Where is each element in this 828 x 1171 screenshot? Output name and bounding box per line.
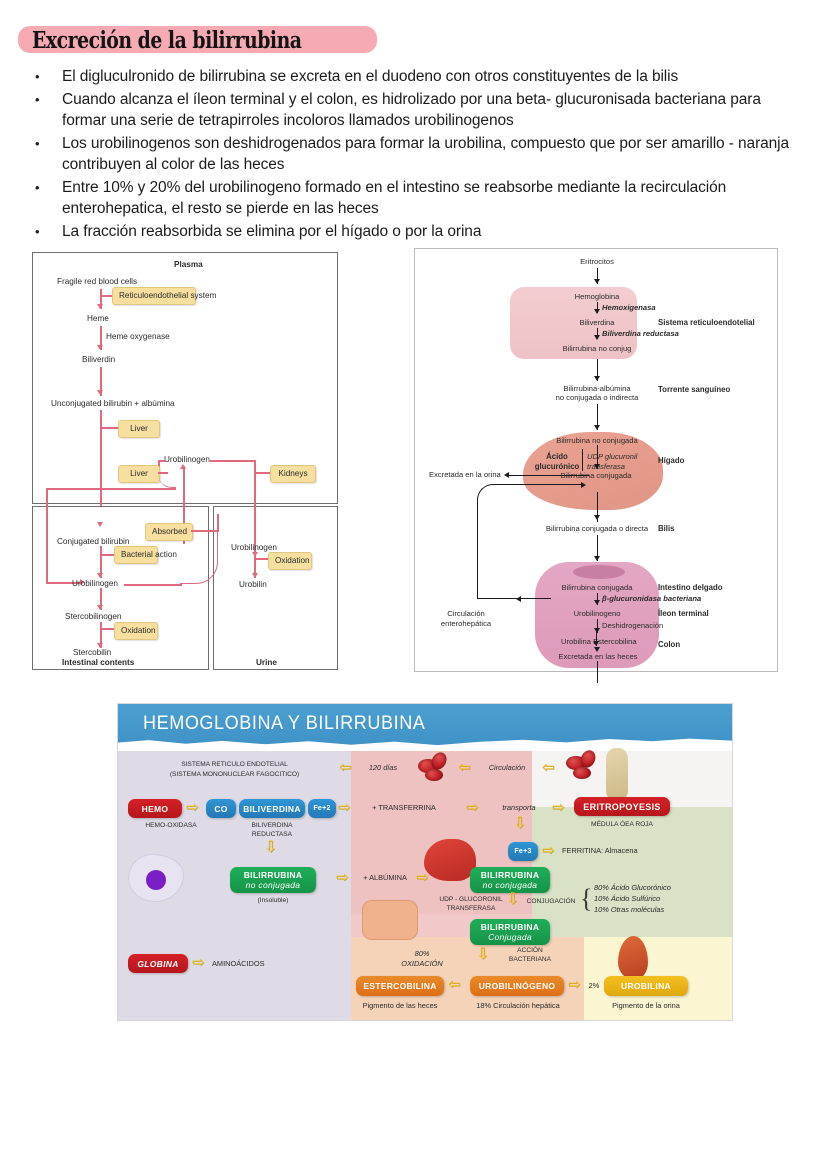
arrow-left [504, 472, 509, 478]
label-conjugacion: CONJUGACIÓN [522, 898, 580, 906]
infographic-title: HEMOGLOBINA Y BILIRRUBINA [143, 713, 425, 735]
tag-globina: GLOBINA [128, 954, 188, 973]
arrow-down [594, 425, 600, 430]
title-highlight: Excreción de la bilirrubina [18, 26, 377, 53]
label-albumina: + ALBÚMINA [356, 874, 414, 882]
list-item: • El digluculronido de bilirrubina se ex… [30, 66, 800, 88]
list-item: • Entre 10% y 20% del urobilinogeno form… [30, 177, 800, 220]
arrow-right-icon: ⇨ [336, 870, 349, 885]
label-udp-glucoronil-l2: TRANSFERASA [438, 905, 504, 913]
label-colon: Colon [658, 640, 680, 649]
bullet-marker: • [30, 221, 62, 242]
label-conjugated-bilirubin: Conjugated bilirubin [57, 537, 129, 546]
connector-curve [180, 530, 218, 584]
label-fragile-rbc: Fragile red blood cells [57, 277, 137, 286]
arrow-right-icon: ⇨ [552, 800, 565, 815]
connector-line [511, 484, 583, 485]
label-deshidrogenacion: Deshidrogenación [602, 621, 663, 630]
arrow-down-icon: ⇩ [264, 840, 277, 856]
label-bacteriana: BACTERIANA [502, 956, 558, 964]
label-bilis: Bilis [658, 524, 674, 533]
bullet-text: Los urobilinogenos son deshidrogenados p… [62, 133, 800, 176]
arrow-right-icon: ⇨ [568, 977, 581, 992]
chip-oxidation-1: Oxidation [114, 622, 158, 640]
label-transferrina: + TRANSFERRINA [362, 804, 446, 812]
arrow-down [97, 345, 103, 350]
label-ferritina: FERRITINA: Almacena [562, 847, 672, 855]
chip-oxidation-2: Oxidation [268, 552, 312, 570]
arrow-down [594, 309, 600, 314]
tag-bilirrubina-no-conjugada-left: BILIRRUBINA no conjugada [230, 867, 316, 893]
page-title: Excreción de la bilirrubina [18, 26, 377, 56]
connector-curve [477, 484, 513, 504]
arrow-down [594, 600, 600, 605]
label-biliverdin: Biliverdin [82, 355, 115, 364]
tag-hemo: HEMO [128, 799, 182, 818]
connector-line [477, 499, 478, 599]
tag-bncr-l2: no conjugada [483, 880, 538, 890]
diagram-bilirubin-english: Plasma Fragile red blood cells Reticuloe… [32, 252, 338, 670]
arrow-left-icon: ⇦ [448, 977, 461, 992]
rbc-icon [573, 767, 591, 779]
connector-line [507, 598, 521, 599]
label-biliverdina-reductasa-l2: REDUCTASA [236, 831, 308, 839]
arrow-down [594, 515, 600, 520]
chip-liver-2: Liver [118, 465, 160, 483]
arrow-right-icon: ⇨ [466, 800, 479, 815]
label-biliverdina-reductasa-l1: BILIVERDINA [236, 822, 308, 830]
intestine-icon [362, 900, 418, 940]
bullet-marker: • [30, 89, 62, 110]
arrow-down [594, 376, 600, 381]
tag-bnc-l2: no conjugada [246, 880, 301, 890]
label-urobilinogen-urine: Urobilinogen [231, 543, 277, 552]
arrow-down [594, 556, 600, 561]
label-transporta: transporta [490, 804, 548, 812]
arrow-down [97, 304, 103, 309]
label-circulacion-hepatica: 18% Circulación hepática [462, 1002, 574, 1010]
label-bilirrubina-no-conjug: Bilirrubina no conjug [537, 344, 657, 353]
list-item: • La fracción reabsorbida se elimina por… [30, 221, 800, 243]
kidney-icon [618, 936, 648, 980]
label-sistema-reticuloendotelial: Sistema reticuloendotelial [658, 318, 755, 327]
label-120-dias: 120 días [358, 764, 408, 772]
bullet-text: Cuando alcanza el íleon terminal y el co… [62, 89, 800, 132]
label-urine: Urine [256, 658, 277, 667]
connector-line [124, 584, 182, 586]
label-pct-acido-glucoronico: 80% Ácido Glucorónico [594, 884, 704, 892]
connector-line [210, 460, 256, 462]
label-stercobilinogen: Stercobilinogen [65, 612, 121, 621]
label-sistema-reticulo-endotelial-l1: SISTEMA RETICULO ENDOTELIAL [132, 761, 337, 769]
label-excretada-en-la-orina: Excretada en la orina [429, 470, 501, 479]
liver-icon [424, 839, 476, 881]
bullet-marker: • [30, 133, 62, 154]
infographic-hemoglobina-bilirrubina: HEMOGLOBINA Y BILIRRUBINA SISTEMA RETICU… [117, 703, 733, 1021]
label-circulacion: Circulación [476, 764, 538, 772]
label-intestino-delgado: Intestino delgado [658, 583, 723, 592]
page-title-text: Excreción de la bilirrubina [32, 29, 302, 52]
label-pigmento-orina: Pigmento de la orina [600, 1002, 692, 1010]
label-bilirrubina-no-conjugada: Bilirrubina no conjugada [539, 436, 655, 445]
arrow-down [594, 335, 600, 340]
arrow-down [594, 279, 600, 284]
label-80-pct: 80% [402, 950, 442, 958]
rbc-icon [425, 769, 443, 781]
list-item: • Los urobilinogenos son deshidrogenados… [30, 133, 800, 176]
bullet-list: • El digluculronido de bilirrubina se ex… [30, 66, 800, 243]
label-bilirrubina-albumina: Bilirrubina-albúmina [537, 384, 657, 393]
label-excretada-en-las-heces: Excretada en las heces [508, 652, 688, 661]
label-ileon-terminal: Íleon terminal [658, 609, 709, 618]
arrow-left-icon: ⇦ [458, 760, 471, 775]
label-insoluble: (Insoluble) [230, 897, 316, 905]
label-urobilinogeno: Urobilinogeno [553, 609, 641, 618]
label-udp-glucoronil-l1: UDP - GLUCORONIL [438, 896, 504, 904]
label-oxidacion: OXIDACIÓN [394, 960, 450, 968]
tag-bilirrubina-conjugada: BILIRRUBINA Conjugada [470, 919, 550, 945]
arrow-down [252, 573, 258, 578]
arrow-down [97, 390, 103, 395]
label-heme-oxygenase: Heme oxygenase [106, 332, 170, 341]
arrow-right-icon: ⇨ [542, 843, 555, 858]
connector-line [100, 410, 102, 506]
tag-bnc-l1: BILIRRUBINA [244, 870, 303, 880]
label-stercobilin: Stercobilin [73, 648, 111, 657]
connector-line [217, 514, 219, 530]
arrow-down [594, 464, 600, 469]
tag-bc-l1: BILIRRUBINA [481, 922, 540, 932]
label-no-conjugada-indirecta: no conjugada o indirecta [537, 393, 657, 402]
arrow-right-icon: ⇨ [416, 870, 429, 885]
label-bcd-text: Bilirrubina conjugada o directa [546, 524, 648, 533]
tag-urobilinogeno: UROBILINÓGENO [470, 976, 564, 996]
tag-fe3: Fe+3 [508, 842, 538, 861]
arrow-down-icon: ⇩ [476, 947, 489, 963]
wbc-nucleus-icon [146, 870, 166, 890]
bullet-text: El digluculronido de bilirrubina se excr… [62, 66, 678, 88]
arrow-up [180, 464, 186, 469]
tag-fe2: Fe+2 [308, 799, 336, 818]
arrow-down [97, 573, 103, 578]
connector-line [509, 475, 589, 476]
label-biliverdina-reductasa: Biliverdina reductasa [602, 329, 679, 338]
arrow-down-icon: ⇩ [513, 816, 526, 832]
tag-bc-l2: Conjugada [488, 932, 532, 942]
chip-bacterial-action: Bacterial action [114, 546, 158, 564]
bone-marrow-icon [606, 748, 628, 800]
label-hemoxigenasa: Hemoxigenasa [602, 303, 656, 312]
bullet-text: Entre 10% y 20% del urobilinogeno formad… [62, 177, 800, 220]
label-beta-glucuronidasa: β-glucuronidasa bacteriana [602, 594, 701, 603]
label-pigmento-heces: Pigmento de las heces [354, 1002, 446, 1010]
diagram-bilirubin-spanish: Eritrocitos Hemoglobina Hemoxigenasa Bil… [414, 248, 778, 672]
tag-co: CO [206, 799, 236, 818]
label-higado: Hígado [658, 456, 684, 465]
shape-intestine-lumen [573, 565, 625, 579]
connector-line [597, 661, 598, 683]
arrow-left-icon: ⇦ [339, 760, 352, 775]
label-pct-acido-sulfurico: 10% Ácido Sulfúrico [594, 895, 704, 903]
bullet-marker: • [30, 177, 62, 198]
label-bilirrubina-conjugada-gut: Bilirrubina conjugada [543, 583, 651, 592]
arrow-right-icon: ⇨ [192, 955, 205, 970]
label-accion: ACCIÓN [502, 947, 558, 955]
label-urobilinogen-gut: Urobilinogen [72, 579, 118, 588]
label-medula-osea-roja: MÉDULA ÓEA ROJA [574, 821, 670, 829]
tag-estercobilina: ESTERCOBILINA [356, 976, 444, 996]
tag-urobilina: UROBILINA [604, 976, 688, 996]
connector-line [582, 449, 583, 471]
label-aminoacidos: AMINOÁCIDOS [212, 960, 292, 968]
label-sistema-reticulo-endotelial-l2: (SISTEMA MONONUCLEAR FAGOCITICO) [132, 771, 337, 779]
tag-bilirrubina-no-conjugada-right: BILIRRUBINA no conjugada [470, 867, 550, 893]
list-item: • Cuando alcanza el íleon terminal y el … [30, 89, 800, 132]
arrow-down [97, 605, 103, 610]
chip-liver-1: Liver [118, 420, 160, 438]
chip-bacterial-action-text: Bacterial action [121, 550, 177, 559]
label-eritrocitos: Eritrocitos [547, 257, 647, 266]
connector-line [521, 598, 551, 599]
label-2-pct: 2% [586, 982, 602, 990]
label-acido-glucuronico: Ácido glucurónico [533, 452, 581, 471]
connector-line [46, 488, 176, 490]
label-circulacion-enterohepatica: Circulación enterohepática [425, 609, 507, 628]
label-pct-otras-moleculas: 10% Otras moléculas [594, 906, 704, 914]
bullet-text: La fracción reabsorbida se elimina por e… [62, 221, 481, 243]
arrow-right [581, 482, 586, 488]
label-urobilinogen-plasma: Urobilinogen [164, 455, 210, 464]
label-torrente-sanguineo: Torrente sanguíneo [658, 385, 730, 394]
tag-eritropoyesis: ERITROPOYESIS [574, 797, 670, 816]
arrow-left-icon: ⇦ [542, 760, 555, 775]
label-biliverdina: Biliverdina [547, 318, 647, 327]
label-bilirrubina-conjugada-directa: Bilirrubina conjugada o directa [523, 524, 671, 533]
label-urobilin: Urobilin [239, 580, 267, 589]
arrow-down [97, 522, 103, 527]
chip-kidneys: Kidneys [270, 465, 316, 483]
label-unconjugated-text: Unconjugated bilirubin + albúmina [51, 399, 175, 408]
tag-bncr-l1: BILIRRUBINA [481, 870, 540, 880]
connector-line [46, 488, 48, 584]
panel-urine [213, 506, 338, 670]
arrow-right-icon: ⇨ [186, 800, 199, 815]
connector-line [100, 427, 120, 429]
label-intestinal-contents: Intestinal contents [62, 658, 134, 667]
arrow-right-icon: ⇨ [338, 800, 351, 815]
label-hemoglobina: Hemoglobina [547, 292, 647, 301]
label-heme: Heme [87, 314, 109, 323]
chip-reticuloendothelial-system: Reticuloendothelial system [112, 287, 196, 305]
bullet-marker: • [30, 66, 62, 87]
arrow-down-icon: ⇩ [506, 892, 519, 908]
brace-icon: { [580, 884, 592, 914]
arrow-down [593, 641, 599, 646]
label-unconjugated-bilirubin: Unconjugated bilirubin + albúmina [51, 399, 175, 408]
label-hemo-oxidasa: HEMO-OXIDASA [132, 822, 210, 830]
tag-biliverdina: BILIVERDINA [239, 799, 305, 818]
label-plasma: Plasma [174, 260, 203, 269]
